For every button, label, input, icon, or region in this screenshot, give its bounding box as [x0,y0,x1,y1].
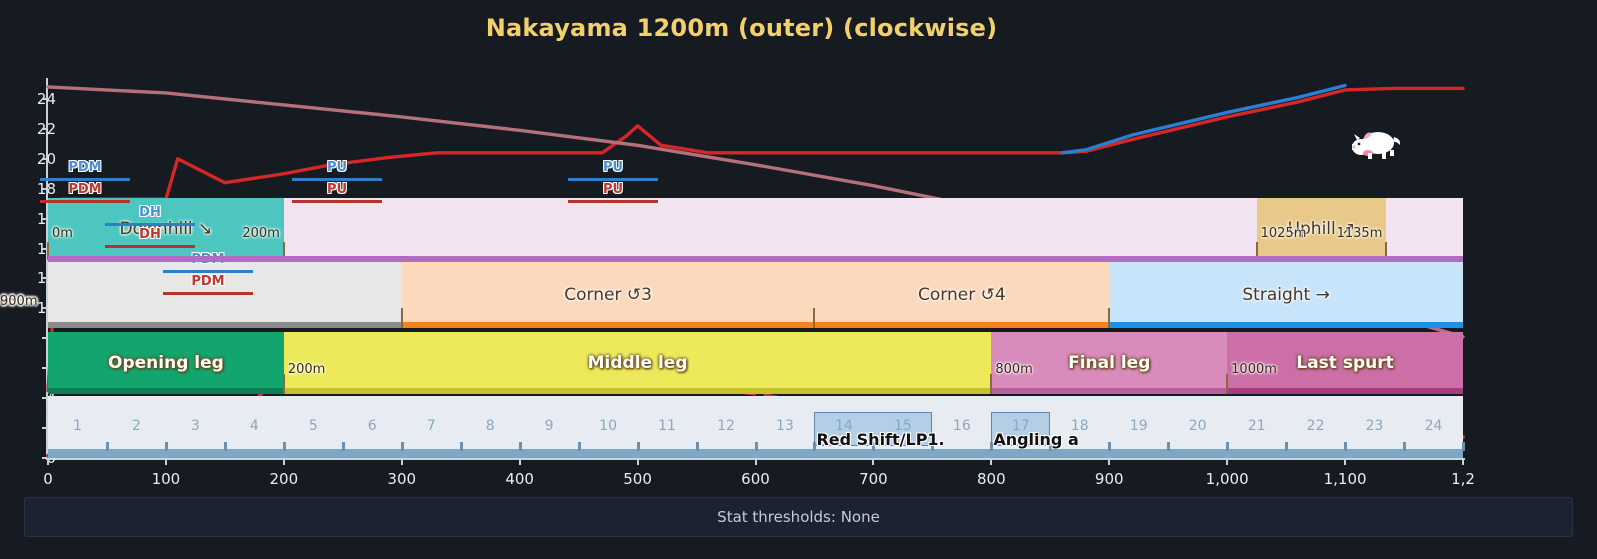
skill-marker-red: PU [603,182,623,197]
segment-tick [1167,442,1170,451]
leg-boundary [1226,374,1228,394]
terrain-boundary-marker: 200m [242,226,279,241]
x-tick-label: 100 [152,470,181,488]
segment-number: 4 [250,418,259,434]
course-band-stripe [402,322,815,328]
segment-tick [1462,442,1465,451]
skill-marker-red: PU [327,182,347,197]
segment-tick [1344,442,1347,451]
skill-marker-blue: PDM [68,160,101,175]
segment-number: 3 [191,418,200,434]
horse-sprite [1344,125,1402,161]
segment-tick [106,442,109,451]
segment-tick [637,442,640,451]
y-tick-mark [42,188,48,190]
leg-band-opening-leg: Opening leg [48,332,284,394]
segment-tick [1285,442,1288,451]
segment-tick [224,442,227,451]
course-band-label: Straight → [1242,285,1329,305]
segment-tick [401,442,404,451]
terrain-boundary-marker: 0m [52,226,73,241]
segment-tick [578,442,581,451]
segment-tick [342,442,345,451]
x-tick-label: 900 [1095,470,1124,488]
segment-tick [519,442,522,451]
page-title: Nakayama 1200m (outer) (clockwise) [0,14,1483,42]
x-tick-label: 200 [270,470,299,488]
y-tick-mark [42,98,48,100]
skill-marker-blue-line [105,223,195,226]
course-band-stripe [1109,322,1463,328]
segment-number: 9 [545,418,554,434]
x-tick-label: 800 [977,470,1006,488]
segment-number: 2 [132,418,141,434]
course-boundary [401,308,403,328]
course-band-stripe [48,322,402,328]
x-tick-label: 300 [387,470,416,488]
leg-boundary-marker: 1000m [1231,362,1277,377]
segment-number: 10 [599,418,617,434]
skill-marker-red: PDM [191,274,224,289]
skill-marker-red: DH [139,227,161,242]
skill-marker-blue-line [163,270,253,273]
leg-band-label: Opening leg [108,353,224,373]
segment-number: 20 [1189,418,1207,434]
x-tick-mark [1462,458,1464,465]
x-tick-mark [990,458,992,465]
x-tick-mark [519,458,521,465]
skill-marker-blue-line [568,178,658,181]
segment-number: 21 [1248,418,1266,434]
course-boundary-marker: 900m [0,294,1105,309]
leg-band-stripe [991,388,1227,394]
segment-number: 1 [73,418,82,434]
x-tick-label: 400 [505,470,534,488]
skill-marker-red-line [40,200,130,203]
segment-number: 12 [717,418,735,434]
skill-marker-blue-line [292,178,382,181]
segment-number: 5 [309,418,318,434]
terrain-band-label: Downhill ↘ [120,219,213,239]
x-tick-mark [872,458,874,465]
segment-number: 24 [1425,418,1443,434]
x-tick-mark [47,458,49,465]
segment-tick [165,442,168,451]
course-boundary [1108,308,1110,328]
skill-marker-blue: PU [327,160,347,175]
leg-boundary-marker: 200m [288,362,325,377]
skill-marker-blue: DH [139,205,161,220]
segment-number: 6 [368,418,377,434]
segment-number: 13 [776,418,794,434]
x-tick-label: 600 [741,470,770,488]
x-tick-mark [755,458,757,465]
x-tick-mark [283,458,285,465]
leg-band-label: Final leg [1068,353,1150,373]
skill-marker-blue: PU [603,160,623,175]
segment-number: 8 [486,418,495,434]
segment-number: 11 [658,418,676,434]
course-band-stripe [814,322,1109,328]
segment-number: 22 [1307,418,1325,434]
leg-boundary [990,374,992,394]
y-tick-mark [42,158,48,160]
x-tick-label: 1,2 [1451,470,1475,488]
segment-number: 23 [1366,418,1384,434]
skill-marker-blue-line [40,178,130,181]
segment-tick [283,442,286,451]
skill-marker-red-line [568,200,658,203]
skill-marker-red: PDM [68,182,101,197]
leg-band-middle-leg: Middle leg [284,332,992,394]
leg-boundary-marker: 800m [995,362,1032,377]
leg-band-label: Last spurt [1296,353,1393,373]
skill-marker-red-line [163,292,253,295]
x-tick-mark [1108,458,1110,465]
skill-marker-red-line [105,245,195,248]
segment-number: 7 [427,418,436,434]
terrain-row-divider [48,256,1463,262]
x-tick-mark [165,458,167,465]
segment-number: 16 [953,418,971,434]
course-band-straight-: Straight → [1109,262,1463,328]
leg-band-stripe [1227,388,1463,394]
terrain-boundary-marker: 1025m [1261,226,1307,241]
x-tick-mark [1344,458,1346,465]
course-boundary [813,308,815,328]
skill-activation-label: Red Shift/LP1. [816,430,944,449]
segment-tick [460,442,463,451]
x-tick-label: 700 [859,470,888,488]
segment-tick [1108,442,1111,451]
leg-band-stripe [48,388,284,394]
terrain-boundary-marker: 1135m [1337,226,1383,241]
status-bar: Stat thresholds: None [24,497,1573,537]
leg-band-label: Middle leg [588,353,688,373]
segment-number: 19 [1130,418,1148,434]
x-tick-mark [1226,458,1228,465]
x-tick-label: 1,100 [1324,470,1367,488]
x-tick-mark [401,458,403,465]
segment-tick [696,442,699,451]
segment-tick [1403,442,1406,451]
x-tick-label: 0 [43,470,53,488]
status-text: Stat thresholds: None [717,508,880,526]
segment-tick [1226,442,1229,451]
x-tick-label: 500 [623,470,652,488]
leg-band-stripe [284,388,992,394]
skill-activation-label: Angling a [993,430,1078,449]
x-tick-mark [637,458,639,465]
skill-marker-red-line [292,200,382,203]
x-tick-label: 1,000 [1206,470,1249,488]
race-course-chart: Nakayama 1200m (outer) (clockwise) 02468… [0,0,1597,559]
y-tick-mark [42,128,48,130]
segment-tick [755,442,758,451]
leg-boundary [283,374,285,394]
